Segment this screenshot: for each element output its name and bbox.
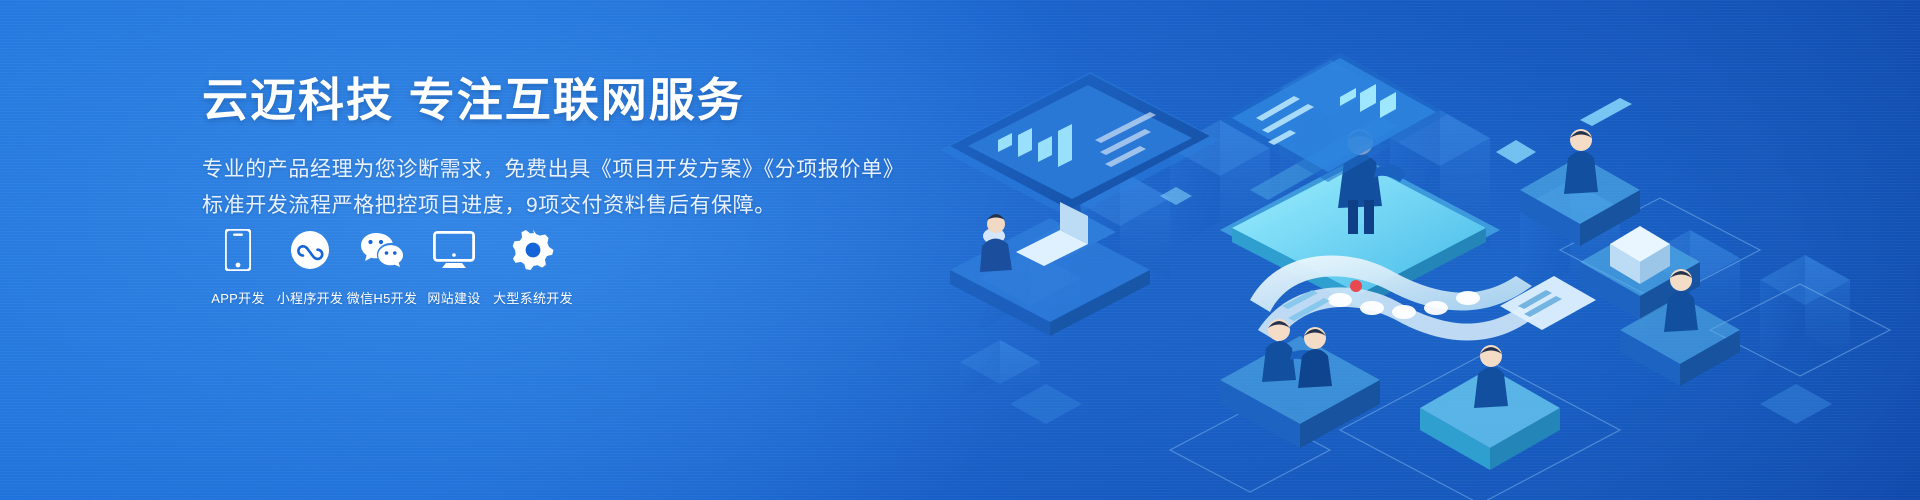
wechat-icon: [359, 228, 405, 272]
service-item-large-system[interactable]: 大型系统开发: [490, 228, 576, 307]
subtitle-line-2: 标准开发流程严格把控项目进度，9项交付资料售后有保障。: [202, 188, 902, 224]
service-item-website[interactable]: 网站建设: [418, 228, 490, 307]
service-label: 小程序开发: [277, 288, 344, 307]
accent-dot: [1350, 280, 1362, 292]
service-item-wechat-h5[interactable]: 微信H5开发: [346, 228, 418, 307]
banner-copy: 云迈科技 专注互联网服务 专业的产品经理为您诊断需求，免费出具《项目开发方案》《…: [202, 72, 902, 224]
mobile-phone-icon: [225, 228, 251, 272]
gear-icon: [512, 228, 554, 272]
isometric-illustration: [920, 0, 1920, 500]
pedestal-bottom-left: [1220, 319, 1380, 448]
service-label: 大型系统开发: [493, 288, 573, 307]
service-label: 微信H5开发: [347, 288, 417, 307]
mini-program-icon: [290, 228, 330, 272]
subtitle-line-1: 专业的产品经理为您诊断需求，免费出具《项目开发方案》《分项报价单》: [202, 152, 902, 188]
pedestal-bottom-center: [1420, 345, 1560, 470]
hero-banner: 云迈科技 专注互联网服务 专业的产品经理为您诊断需求，免费出具《项目开发方案》《…: [0, 0, 1920, 500]
service-label: 网站建设: [427, 288, 480, 307]
service-item-miniprogram[interactable]: 小程序开发: [274, 228, 346, 307]
service-item-app[interactable]: APP开发: [202, 228, 274, 307]
monitor-icon: [433, 228, 475, 272]
service-list: APP开发 小程序开发 微信: [202, 228, 576, 307]
banner-subtitle: 专业的产品经理为您诊断需求，免费出具《项目开发方案》《分项报价单》 标准开发流程…: [202, 152, 902, 224]
service-label: APP开发: [211, 288, 265, 307]
page-title: 云迈科技 专注互联网服务: [202, 72, 902, 130]
